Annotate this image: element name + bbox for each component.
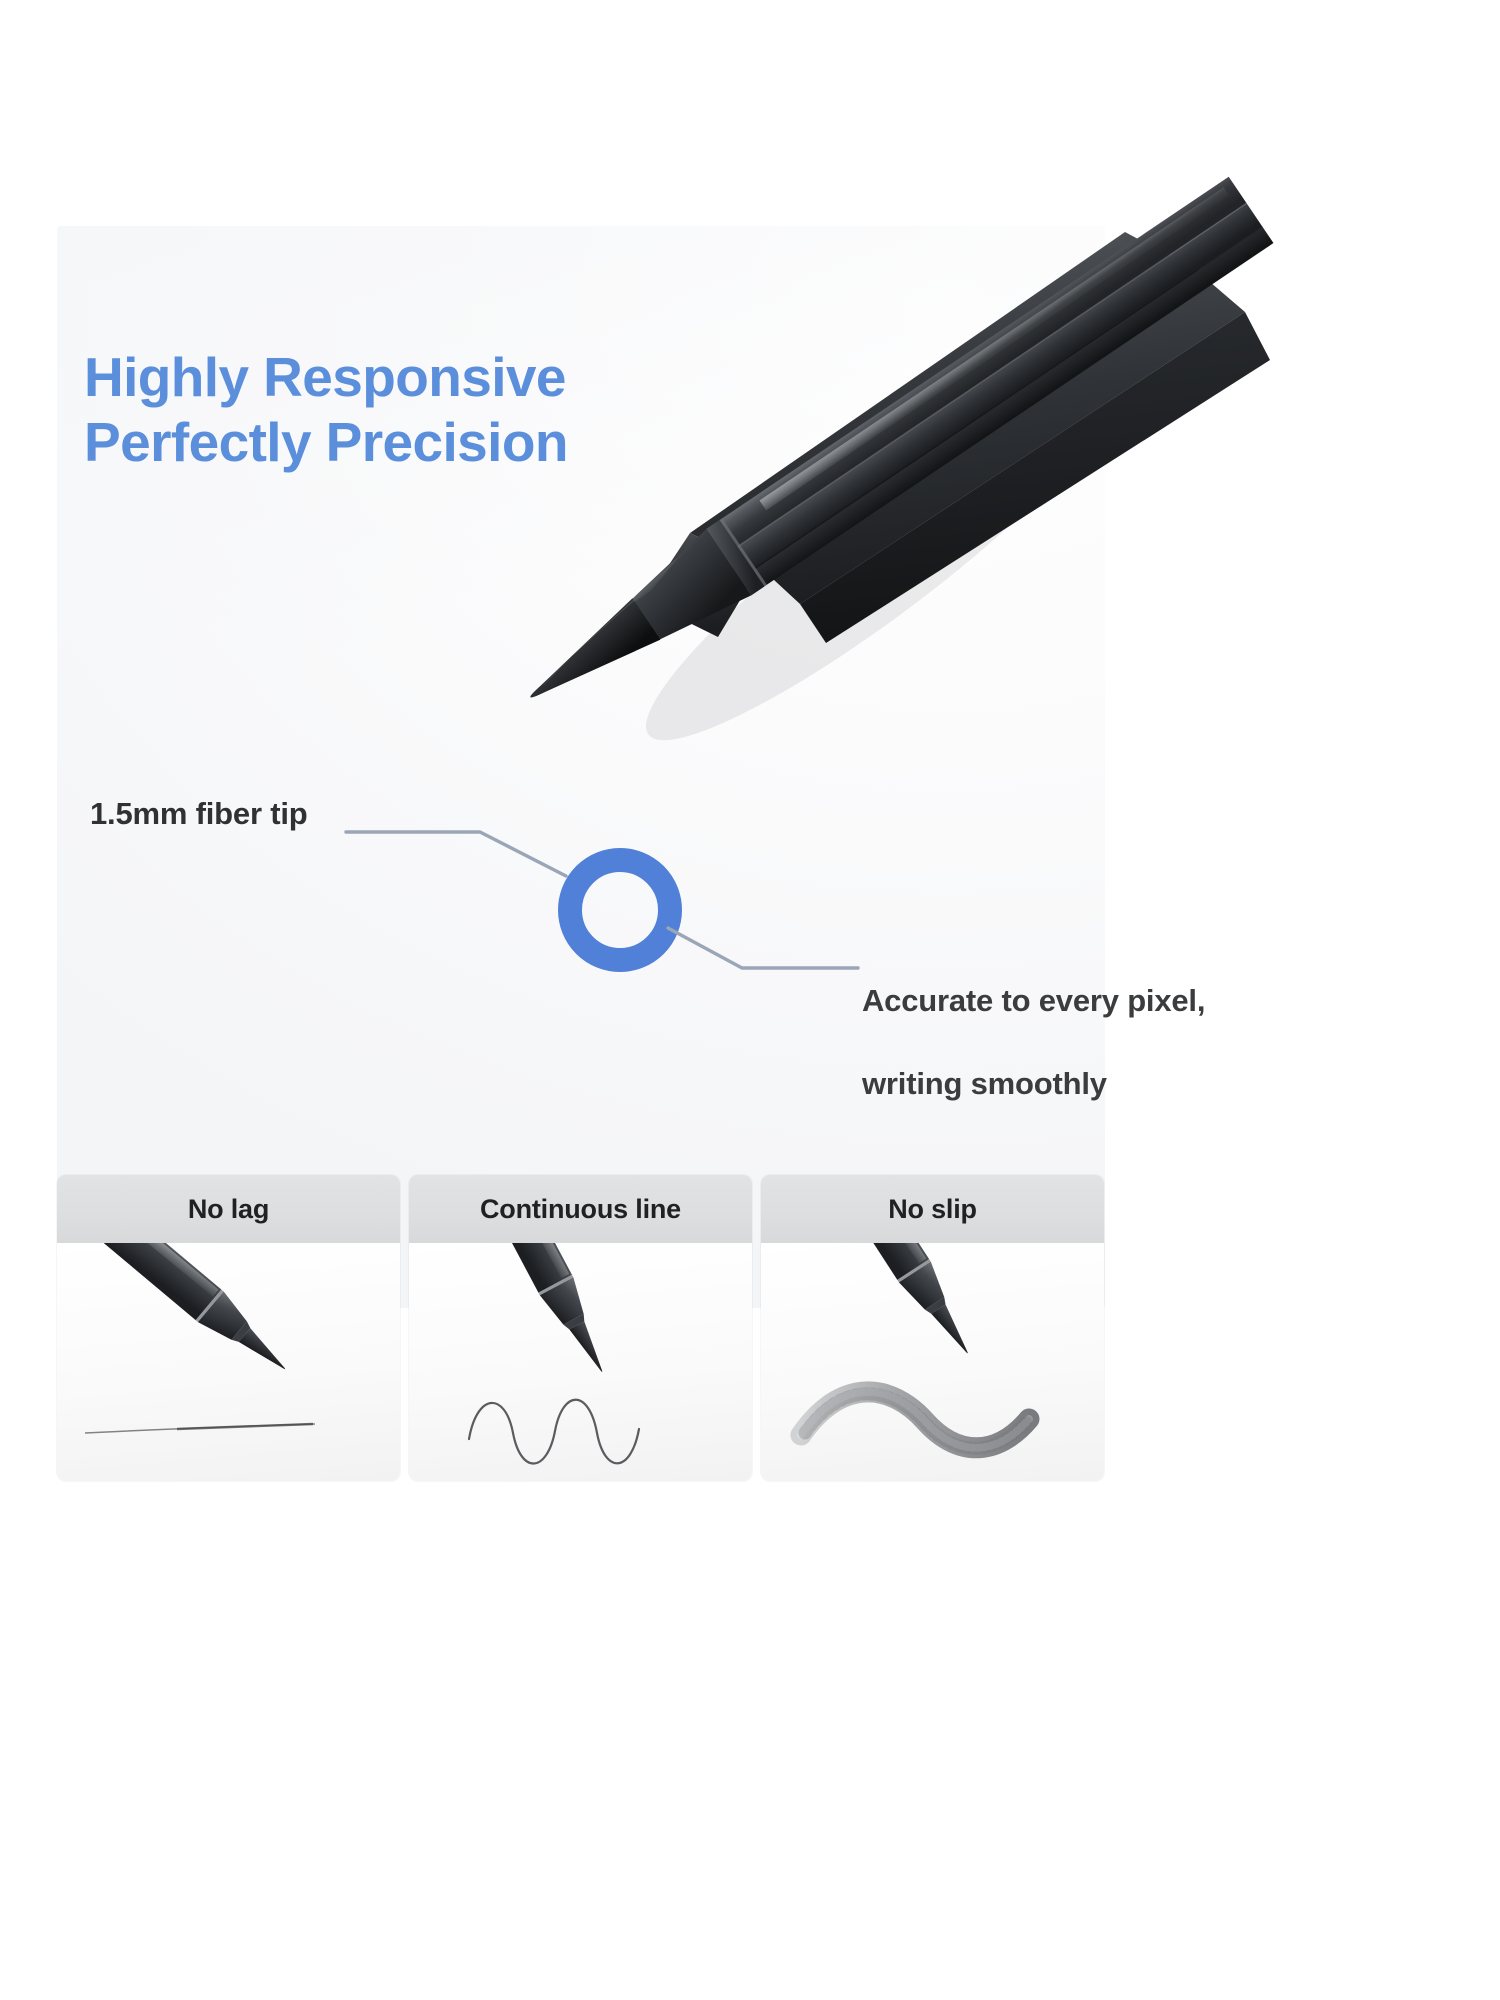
panel-header-no-lag: No lag <box>57 1175 400 1243</box>
product-feature-graphic: Highly Responsive Perfectly Precision 1.… <box>0 0 1500 2000</box>
panel-body-no-lag <box>57 1243 400 1481</box>
callout-accuracy-line-2: writing smoothly <box>862 1066 1107 1101</box>
headline-line-2: Perfectly Precision <box>84 410 568 475</box>
feature-panel-no-lag: No lag <box>57 1175 400 1481</box>
panel-body-no-slip <box>761 1243 1104 1481</box>
illustration-wave-line <box>409 1243 752 1481</box>
panel-header-continuous-line: Continuous line <box>409 1175 752 1243</box>
panel-title-no-slip: No slip <box>888 1194 977 1225</box>
feature-panel-row: No lag <box>57 1175 1105 1481</box>
illustration-straight-line <box>57 1243 400 1481</box>
drawn-wave-line <box>469 1400 639 1464</box>
panel-body-continuous-line <box>409 1243 752 1481</box>
panel-header-no-slip: No slip <box>761 1175 1104 1243</box>
illustration-textured-stroke <box>761 1243 1104 1481</box>
callout-label-fiber-tip: 1.5mm fiber tip <box>90 796 308 832</box>
page-headline: Highly Responsive Perfectly Precision <box>84 280 568 540</box>
feature-panel-no-slip: No slip <box>761 1175 1104 1481</box>
panel-title-continuous-line: Continuous line <box>480 1194 681 1225</box>
feature-panel-continuous-line: Continuous line <box>409 1175 752 1481</box>
callout-label-accuracy: Accurate to every pixel, writing smoothl… <box>862 938 1205 1104</box>
callout-accuracy-line-1: Accurate to every pixel, <box>862 983 1205 1018</box>
headline-line-1: Highly Responsive <box>84 346 566 408</box>
panel-title-no-lag: No lag <box>188 1194 269 1225</box>
